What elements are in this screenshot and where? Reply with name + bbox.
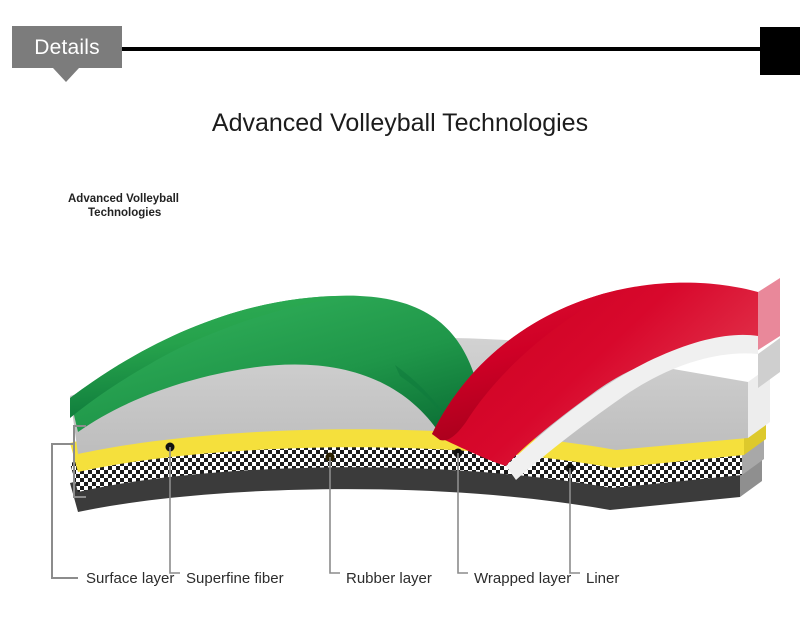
illustration-watermark: Advanced Volleyball Technologies [68,193,179,219]
callout-surface-layer: Surface layer [86,570,174,587]
header-bar: Details [0,0,800,90]
callout-label-wrapped-layer: Wrapped layer [474,570,571,587]
details-tab-label: Details [34,37,100,58]
details-tab[interactable]: Details [12,26,122,68]
page-title: Advanced Volleyball Technologies [0,108,800,138]
details-tab-pointer-icon [53,68,79,82]
layer-structure-illustration: Advanced Volleyball Technologies [0,150,800,644]
header-end-block [760,27,800,75]
callout-label-superfine-fiber: Superfine fiber [186,570,284,587]
layer-surface-red-right-edge [758,278,780,350]
watermark-line-1: Advanced Volleyball [68,193,179,205]
header-divider-line [108,47,768,51]
callout-label-surface-layer: Surface layer [86,570,174,587]
callout-label-rubber-layer: Rubber layer [346,570,432,587]
panel-cutaway-body [70,278,780,512]
watermark-line-2: Technologies [88,207,161,219]
callout-label-liner: Liner [586,570,619,587]
